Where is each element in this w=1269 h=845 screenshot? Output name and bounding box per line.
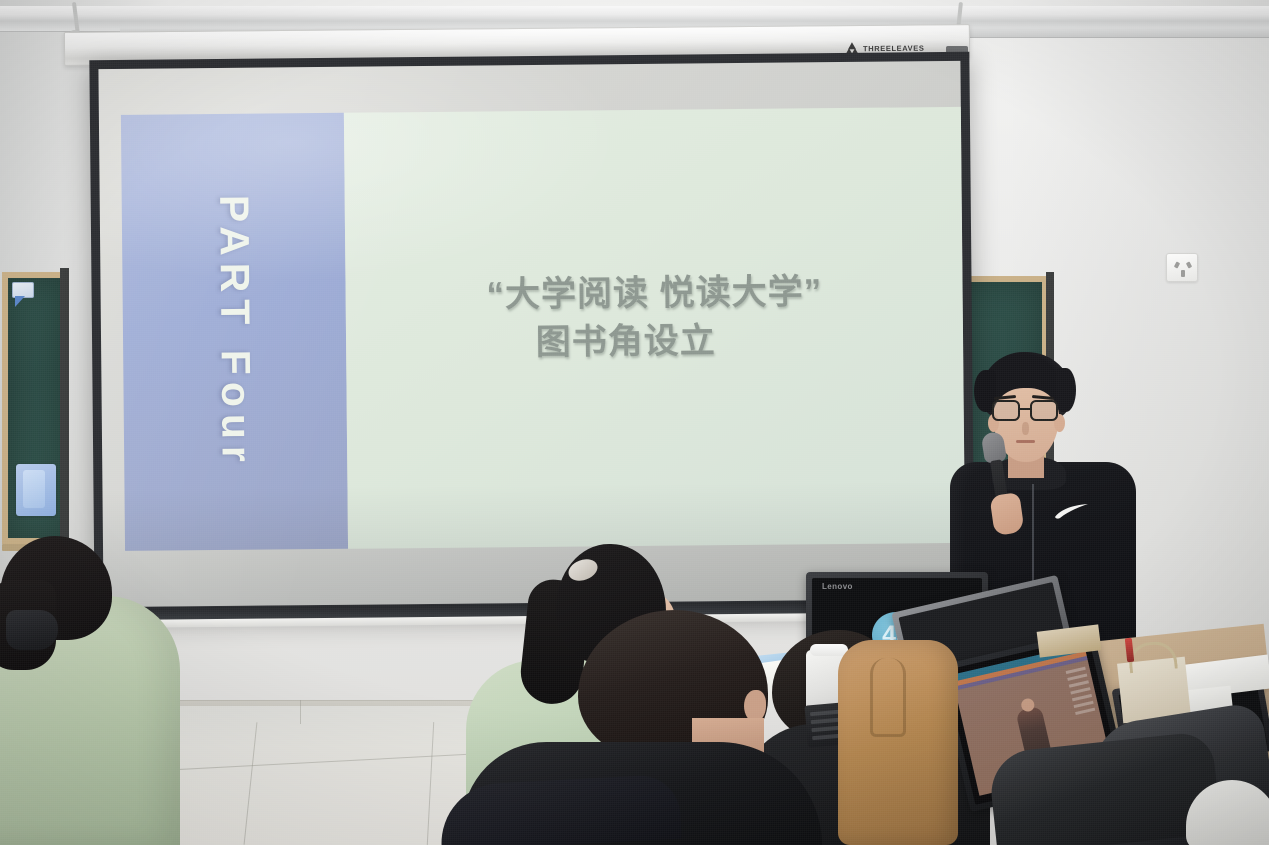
slide-title-line-1: “大学阅读 悦读大学” bbox=[486, 268, 822, 320]
microphone-head bbox=[981, 431, 1007, 464]
projector-screen-brand-label: THREELEAVES bbox=[863, 43, 925, 53]
student-sage-fleece-mask bbox=[6, 610, 58, 650]
glasses-lens-left bbox=[992, 400, 1020, 421]
slide-right-panel: “大学阅读 悦读大学” 图书角设立 bbox=[344, 107, 965, 549]
classroom-photo-scene: THREELEAVES 04 PART Four “大学阅读 悦读大学” 图书角… bbox=[0, 0, 1269, 845]
chalk-eraser bbox=[16, 464, 56, 516]
presentation-slide: 04 PART Four “大学阅读 悦读大学” 图书角设立 bbox=[121, 107, 965, 551]
projection-surface: 04 PART Four “大学阅读 悦读大学” 图书角设立 bbox=[98, 61, 965, 607]
slide-part-label: PART Four bbox=[210, 195, 260, 469]
glasses-lens-right bbox=[1030, 400, 1058, 421]
water-bottle-cap bbox=[810, 644, 848, 656]
monitor-brand-label: Lenovo bbox=[822, 582, 853, 591]
glasses-bridge bbox=[1020, 408, 1030, 410]
slide-title-block: “大学阅读 悦读大学” 图书角设立 bbox=[486, 268, 823, 368]
presenter-nose bbox=[1022, 422, 1029, 435]
presenter-mouth bbox=[1016, 440, 1035, 443]
presenter-glasses bbox=[992, 400, 1060, 421]
floor-tile-seam bbox=[300, 700, 301, 724]
backpack-tan bbox=[838, 640, 958, 845]
chalkboard-clip bbox=[12, 282, 34, 298]
chalkboard-left-edge bbox=[60, 268, 69, 550]
slide-left-panel: 04 PART Four bbox=[121, 113, 349, 551]
nike-swoosh-icon bbox=[1054, 504, 1090, 519]
slide-title-line-2: 图书角设立 bbox=[429, 316, 823, 368]
wall-power-socket[interactable] bbox=[1166, 253, 1198, 282]
projection-screen: 04 PART Four “大学阅读 悦读大学” 图书角设立 bbox=[89, 52, 974, 616]
